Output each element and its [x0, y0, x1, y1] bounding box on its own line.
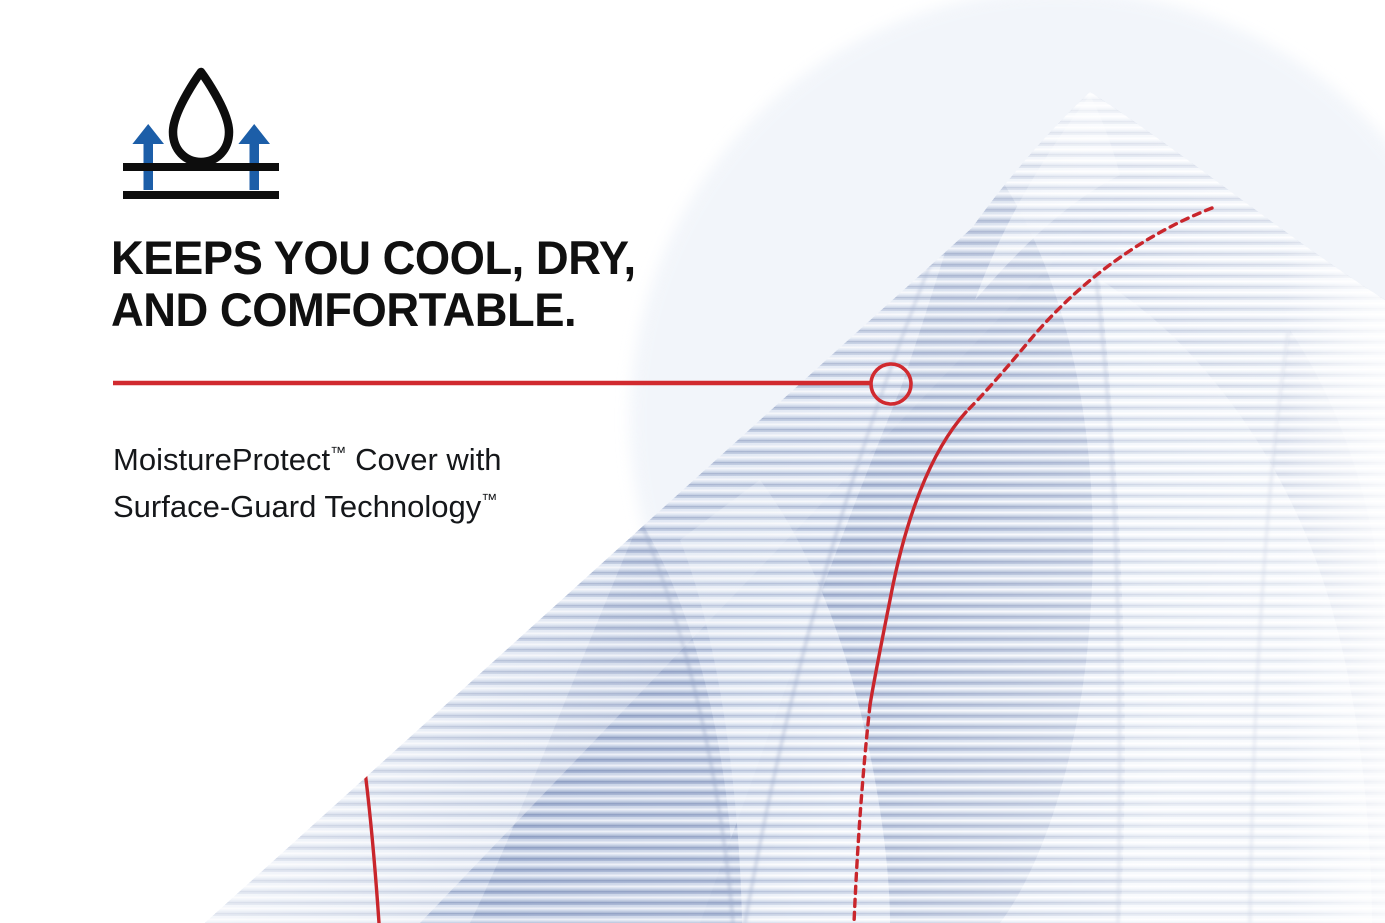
red-pointer-line: [0, 0, 940, 460]
feature-description: MoistureProtect™ Cover withSurface-Guard…: [113, 433, 673, 527]
description-line1-prefix: MoistureProtect: [113, 442, 330, 477]
trademark-icon-2: ™: [481, 491, 497, 509]
trademark-icon-1: ™: [330, 444, 346, 462]
circle-marker: [871, 364, 911, 404]
description-line1-suffix: Cover with: [347, 442, 502, 477]
feature-banner: KEEPS YOU COOL, DRY, AND COMFORTABLE. Mo…: [0, 0, 1385, 923]
description-line2-prefix: Surface-Guard Technology: [113, 489, 481, 524]
